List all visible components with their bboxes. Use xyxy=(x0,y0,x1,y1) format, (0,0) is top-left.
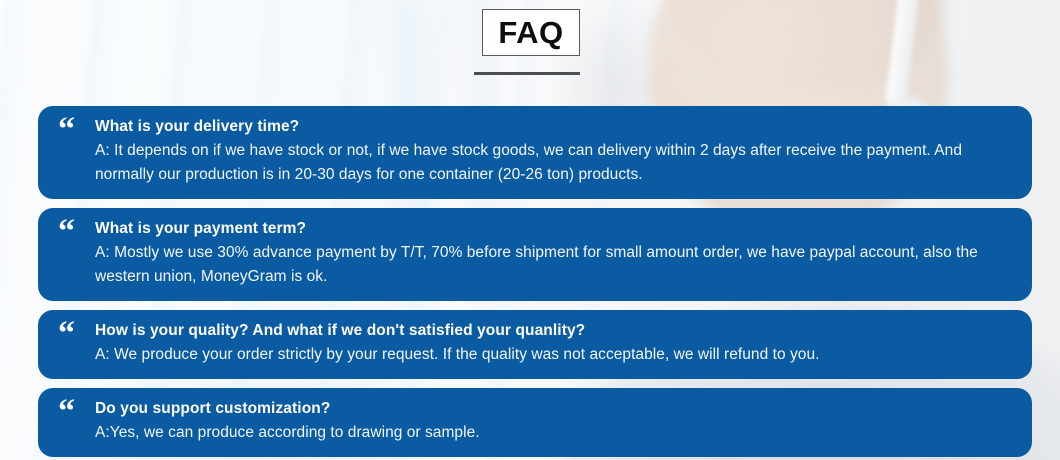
faq-item[interactable]: “ How is your quality? And what if we do… xyxy=(38,310,1032,379)
faq-item[interactable]: “ Do you support customization? A:Yes, w… xyxy=(38,388,1032,457)
faq-page: FAQ “ What is your delivery time? A: It … xyxy=(0,0,1060,460)
faq-answer: A: It depends on if we have stock or not… xyxy=(95,139,1010,187)
quote-icon: “ xyxy=(58,400,88,424)
faq-answer: A: We produce your order strictly by you… xyxy=(95,343,1010,367)
faq-body: Do you support customization? A:Yes, we … xyxy=(88,398,1010,445)
faq-body: What is your delivery time? A: It depend… xyxy=(88,116,1010,187)
faq-answer: A: Mostly we use 30% advance payment by … xyxy=(95,241,1010,289)
faq-body: How is your quality? And what if we don'… xyxy=(88,320,1010,367)
quote-icon: “ xyxy=(58,322,88,346)
faq-question: Do you support customization? xyxy=(95,399,1010,419)
faq-list: “ What is your delivery time? A: It depe… xyxy=(38,106,1032,460)
faq-item[interactable]: “ What is your delivery time? A: It depe… xyxy=(38,106,1032,199)
faq-question: What is your delivery time? xyxy=(95,117,1010,137)
faq-body: What is your payment term? A: Mostly we … xyxy=(88,218,1010,289)
title-underline xyxy=(474,72,580,75)
page-title: FAQ xyxy=(498,17,563,48)
quote-icon: “ xyxy=(58,220,88,244)
page-header: FAQ xyxy=(0,0,1060,100)
faq-answer: A:Yes, we can produce according to drawi… xyxy=(95,421,1010,445)
faq-question: What is your payment term? xyxy=(95,219,1010,239)
faq-question: How is your quality? And what if we don'… xyxy=(95,321,1010,341)
quote-icon: “ xyxy=(58,118,88,142)
faq-title-box: FAQ xyxy=(482,9,580,56)
faq-item[interactable]: “ What is your payment term? A: Mostly w… xyxy=(38,208,1032,301)
